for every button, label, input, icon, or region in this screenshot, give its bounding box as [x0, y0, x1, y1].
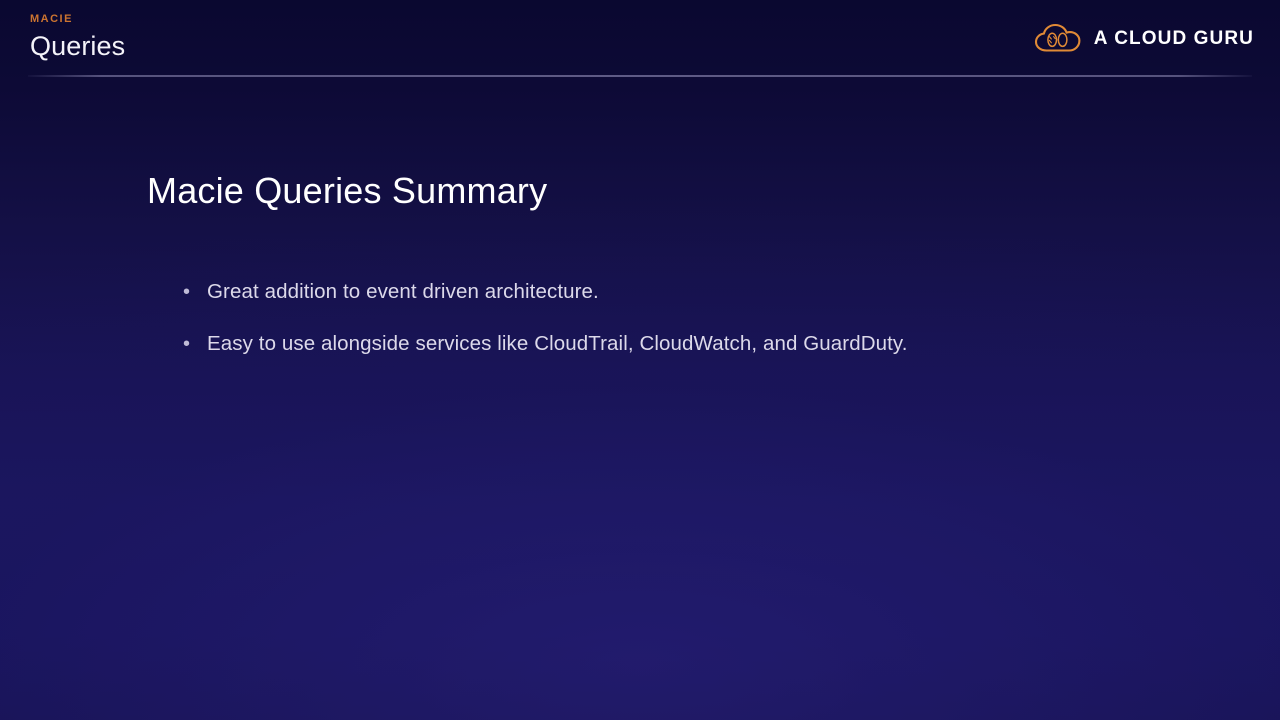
list-item: • Easy to use alongside services like Cl…: [183, 331, 1123, 357]
bullet-marker-icon: •: [183, 280, 207, 304]
list-item-text: Easy to use alongside services like Clou…: [207, 331, 908, 357]
list-item-text: Great addition to event driven architect…: [207, 279, 599, 305]
header-eyebrow-label: MACIE: [30, 12, 125, 26]
slide-header: MACIE Queries A CLOUD GURU: [0, 0, 1280, 78]
list-item: • Great addition to event driven archite…: [183, 279, 1123, 305]
header-title-group: MACIE Queries: [30, 12, 125, 63]
page-title: Macie Queries Summary: [147, 168, 547, 214]
slide: MACIE Queries A CLOUD GURU Macie Quer: [0, 0, 1280, 720]
cloud-guru-logo-icon: [1034, 22, 1082, 56]
header-section-title: Queries: [30, 29, 125, 63]
header-divider: [28, 75, 1252, 77]
brand-name-text: A CLOUD GURU: [1094, 28, 1254, 50]
brand-lockup: A CLOUD GURU: [1034, 22, 1254, 56]
bullet-list: • Great addition to event driven archite…: [183, 279, 1123, 383]
bullet-marker-icon: •: [183, 332, 207, 356]
